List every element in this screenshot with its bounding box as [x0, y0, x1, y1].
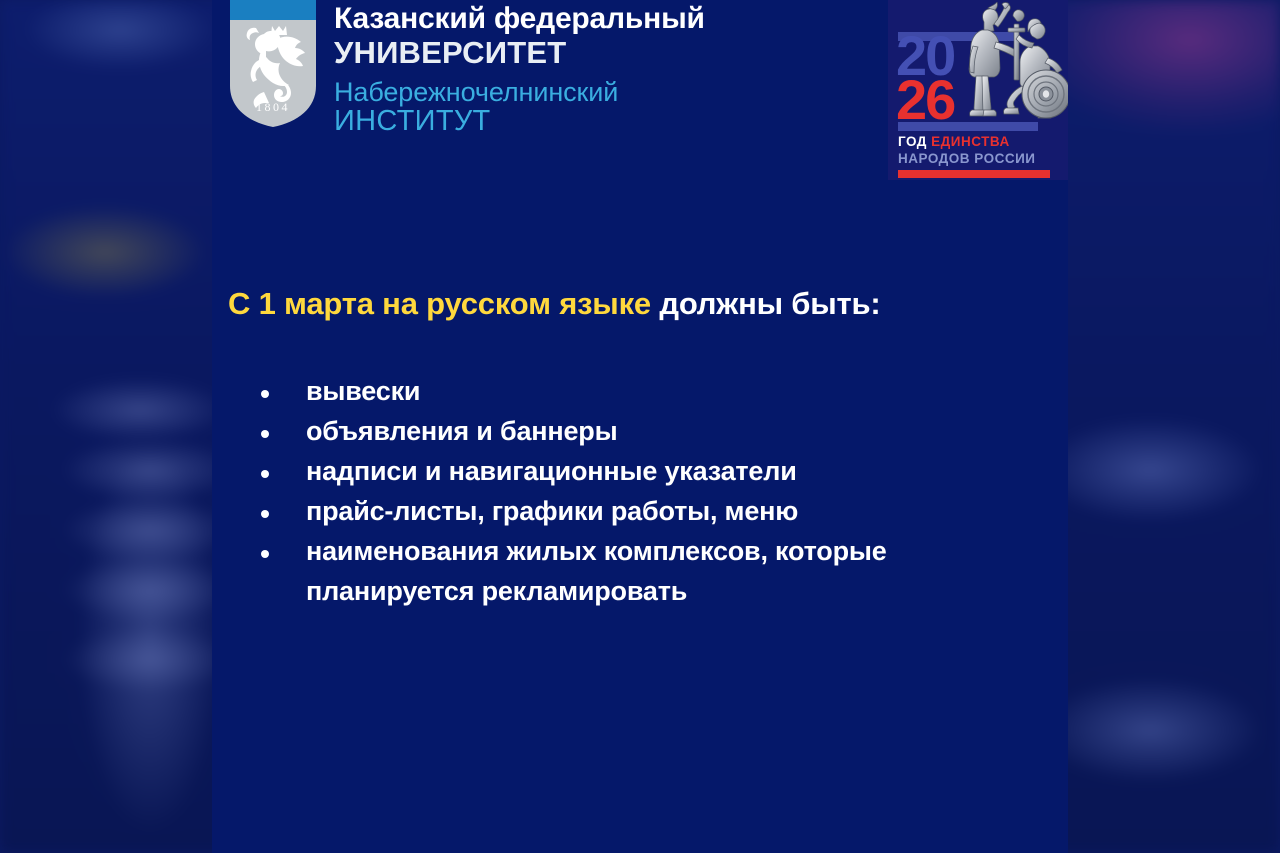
page-title-highlight: С 1 марта на русском языке [228, 286, 651, 321]
wordmark-line-1: Казанский федеральный [334, 4, 705, 34]
page-title: С 1 марта на русском языке должны быть: [228, 286, 880, 323]
page-title-plain: должны быть: [651, 286, 881, 321]
emblem-caption-line-1: ГОД ЕДИНСТВА [898, 134, 1010, 149]
svg-text:1804: 1804 [256, 100, 290, 114]
wordmark-line-2: УНИВЕРСИТЕТ [334, 37, 705, 68]
emblem-bar-bottom [898, 170, 1050, 178]
list-item: наименования жилых комплексов, которые п… [246, 532, 1036, 612]
list-item: объявления и баннеры [246, 412, 1036, 452]
slide-stage: 1804 Казанский федеральный УНИВЕРСИТЕТ Н… [0, 0, 1280, 853]
list-item: надписи и навигационные указатели [246, 452, 1036, 492]
requirements-list: вывески объявления и баннеры надписи и н… [246, 372, 1036, 612]
kfu-logo: 1804 Казанский федеральный УНИВЕРСИТЕТ Н… [228, 0, 705, 136]
emblem-caption-line-2: НАРОДОВ РОССИИ [898, 151, 1036, 166]
wordmark-line-3: Набережночелнинский [334, 79, 705, 106]
minin-pozharsky-monument-icon [940, 2, 1068, 130]
kfu-shield-icon: 1804 [228, 0, 318, 128]
emblem-caption-edinstva: ЕДИНСТВА [931, 134, 1010, 149]
kfu-wordmark: Казанский федеральный УНИВЕРСИТЕТ Набере… [334, 0, 705, 136]
list-item: вывески [246, 372, 1036, 412]
slide-card: 1804 Казанский федеральный УНИВЕРСИТЕТ Н… [212, 0, 1068, 853]
year-2026-emblem: 20 26 [888, 0, 1068, 180]
list-item: прайс-листы, графики работы, меню [246, 492, 1036, 532]
wordmark-line-4: ИНСТИТУТ [334, 107, 705, 136]
emblem-caption-god: ГОД [898, 134, 931, 149]
